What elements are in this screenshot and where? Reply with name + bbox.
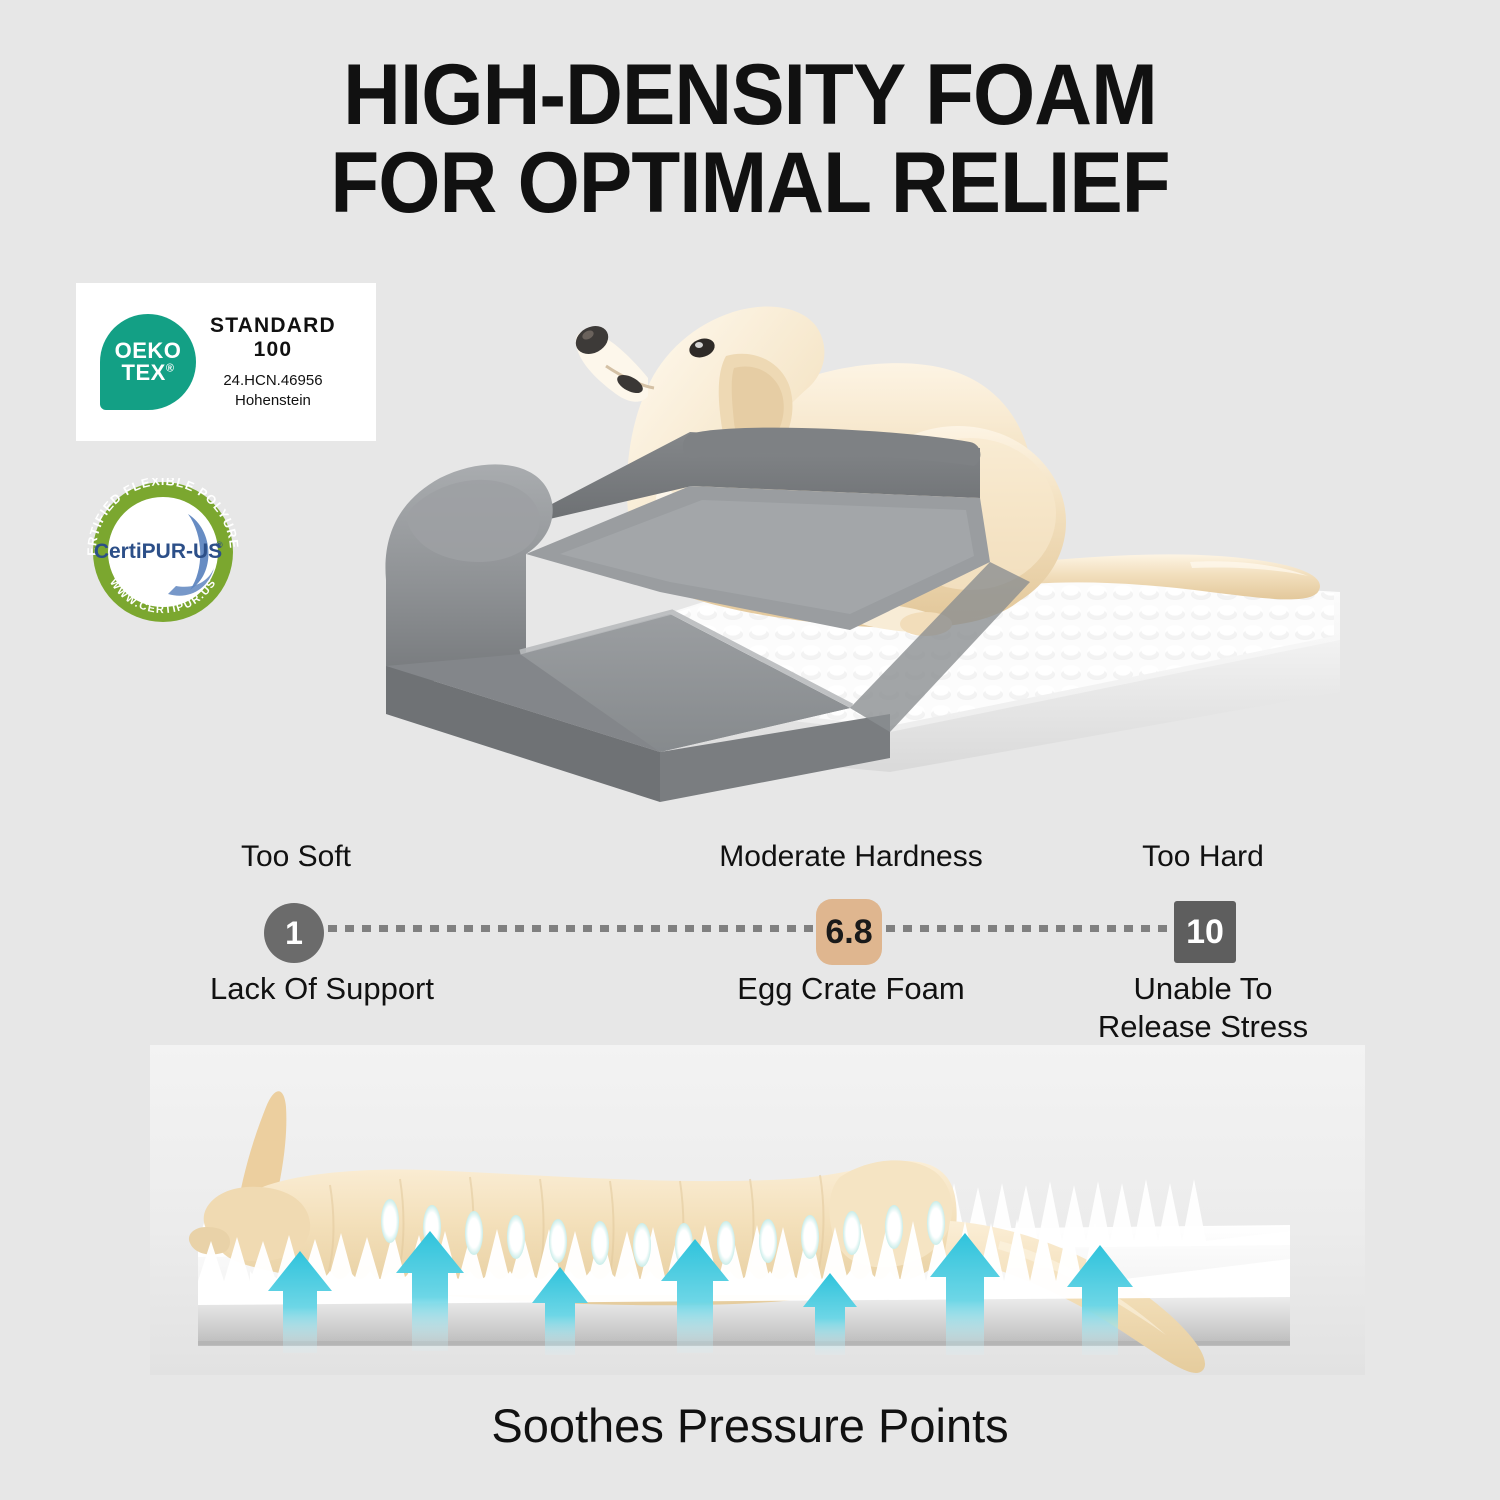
scale-top-labels: Too Soft Moderate Hardness Too Hard: [0, 840, 1500, 880]
page-title: HIGH-DENSITY FOAM FOR OPTIMAL RELIEF: [53, 52, 1448, 227]
dog-on-orthopedic-bed: [330, 262, 1340, 807]
scale-marker-6-8[interactable]: 6.8: [816, 899, 882, 965]
oeko-tex-logo-icon: OEKO TEX®: [100, 314, 196, 410]
infographic-page: HIGH-DENSITY FOAM FOR OPTIMAL RELIEF OEK…: [0, 0, 1500, 1500]
certipur-us-seal: CONTAINS CERTIFIED FLEXIBLE POLYURETHANE…: [80, 478, 246, 626]
scale-track: 1 6.8 10: [0, 895, 1500, 961]
scale-marker-6-8-value: 6.8: [825, 913, 872, 952]
footer-caption: Soothes Pressure Points: [0, 1398, 1500, 1453]
oeko-standard-number: 100: [254, 338, 293, 361]
certipur-registered-mark: ®: [216, 540, 223, 550]
scale-desc-line-2: Release Stress: [1098, 1009, 1308, 1044]
scale-desc-egg-crate-foam: Egg Crate Foam: [701, 970, 1001, 1008]
scale-desc-unable-to-release-stress: Unable To Release Stress: [1053, 970, 1353, 1046]
scale-marker-1-value: 1: [285, 915, 303, 952]
oeko-standard-label: STANDARD 100: [210, 314, 336, 362]
scale-bottom-labels: Lack Of Support Egg Crate Foam Unable To…: [0, 970, 1500, 1040]
certipur-center-text: CertiPUR-US: [94, 540, 222, 563]
scale-marker-10[interactable]: 10: [1174, 901, 1236, 963]
scale-label-too-soft: Too Soft: [146, 840, 446, 874]
scale-desc-line-1: Unable To: [1133, 971, 1272, 1006]
hardness-scale: Too Soft Moderate Hardness Too Hard 1 6.…: [0, 840, 1500, 1040]
scale-marker-1[interactable]: 1: [264, 903, 324, 963]
title-line-2: FOR OPTIMAL RELIEF: [53, 140, 1448, 228]
oeko-logo-line-2: TEX®: [122, 362, 175, 384]
title-line-1: HIGH-DENSITY FOAM: [343, 47, 1157, 143]
scale-marker-10-value: 10: [1186, 913, 1224, 952]
oeko-institute: Hohenstein: [235, 392, 311, 409]
scale-connector-left: [328, 925, 814, 932]
oeko-logo-line-1: OEKO: [115, 340, 182, 362]
scale-connector-right: [886, 925, 1172, 932]
oeko-certificate-number: 24.HCN.46956: [223, 372, 322, 389]
scale-label-too-hard: Too Hard: [1053, 840, 1353, 874]
oeko-tex-text-block: STANDARD 100 24.HCN.46956 Hohenstein: [210, 314, 336, 410]
scale-label-moderate-hardness: Moderate Hardness: [701, 840, 1001, 874]
scale-desc-lack-of-support: Lack Of Support: [172, 970, 472, 1008]
oeko-certificate-block: 24.HCN.46956 Hohenstein: [210, 371, 336, 410]
pressure-relief-diagram: [150, 1045, 1365, 1375]
